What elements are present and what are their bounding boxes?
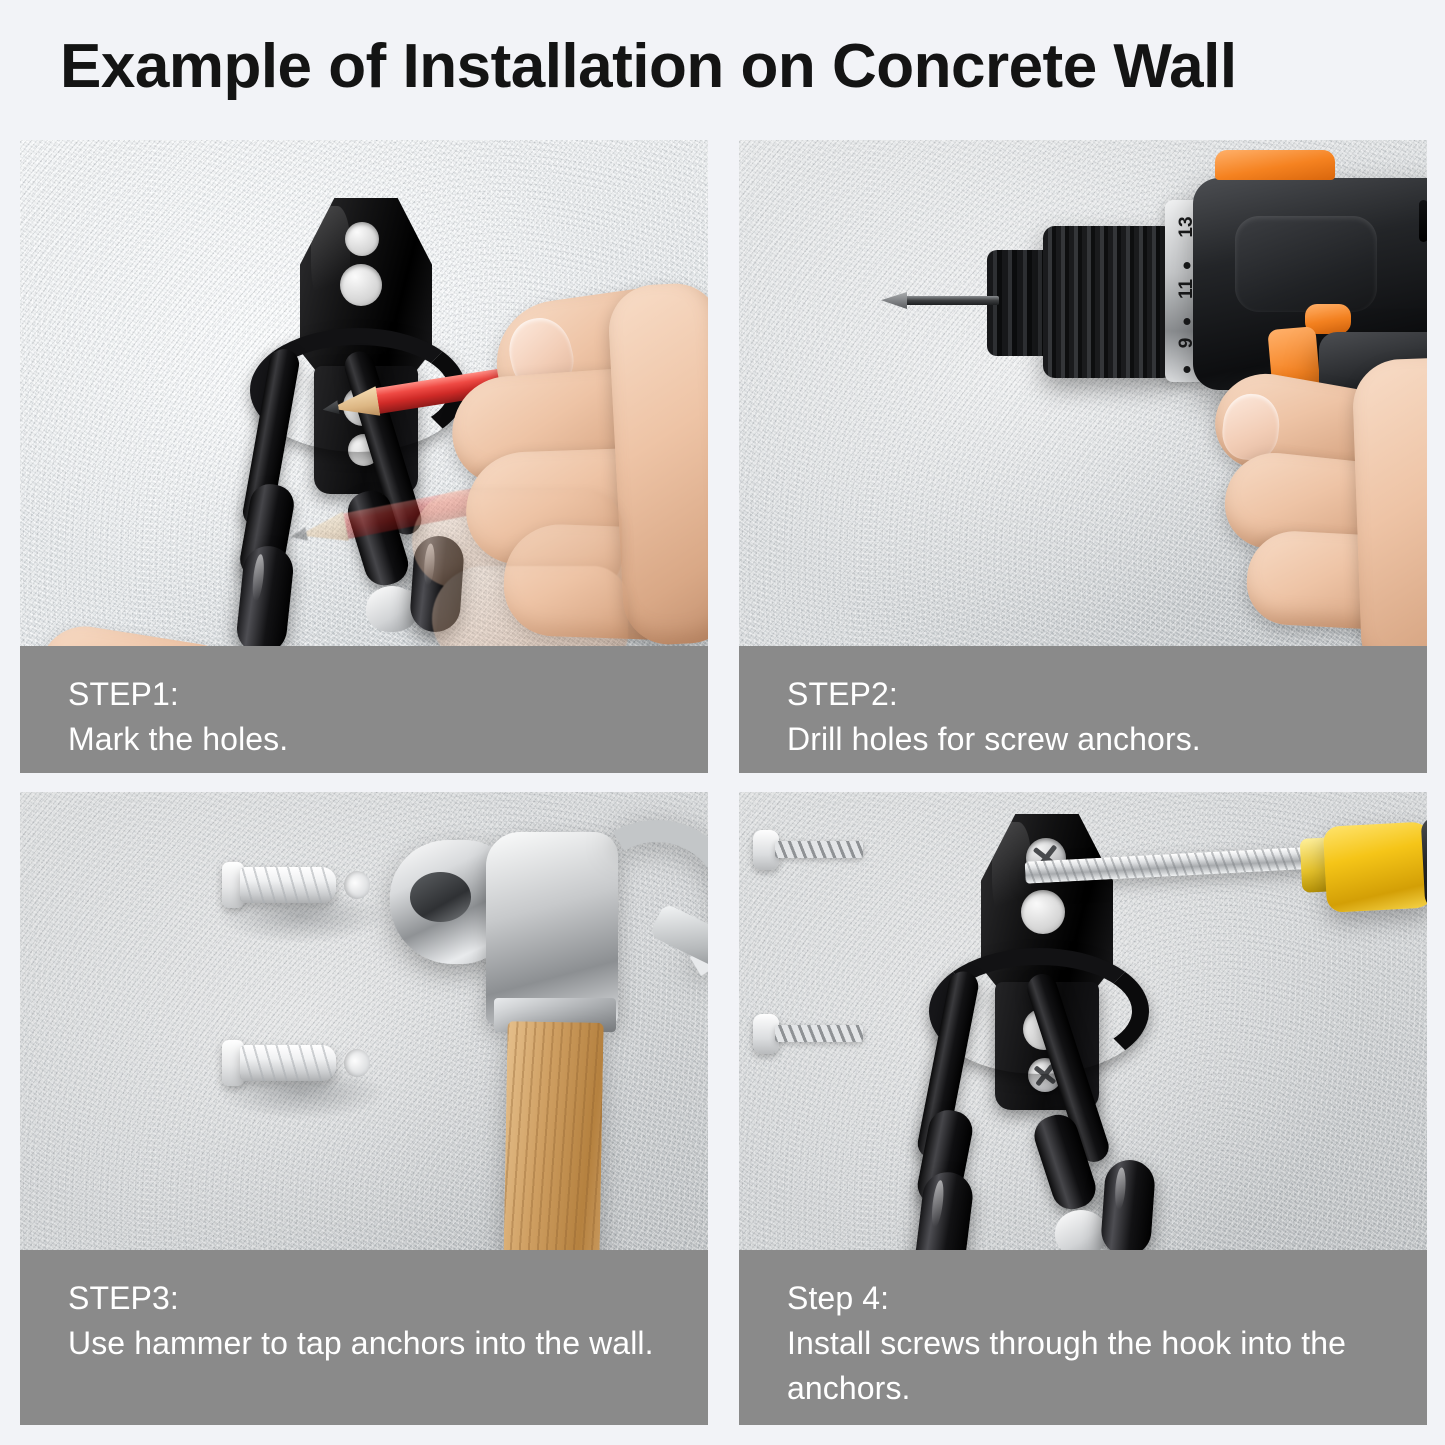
step-panel-1: STEP1: Mark the holes. [20, 140, 708, 773]
anchor-shaft-top [240, 867, 336, 903]
wall-anchor-bottom [222, 1040, 372, 1090]
torque-dot-1 [1184, 262, 1191, 269]
step-1-heading: STEP1: [68, 672, 708, 717]
step-3-body: Use hammer to tap anchors into the wall. [68, 1321, 660, 1366]
torque-dot-2 [1184, 318, 1191, 325]
step-4-body: Install screws through the hook into the… [787, 1321, 1379, 1411]
step-1-body: Mark the holes. [68, 717, 660, 762]
grip-hand-back [1351, 355, 1427, 680]
hook-hole-second [340, 264, 382, 306]
screwdriver-shaft [1025, 846, 1322, 883]
screw-thread-bottom [775, 1025, 863, 1042]
drill-top-accent [1215, 150, 1335, 180]
step-4-heading: Step 4: [787, 1276, 1427, 1321]
step-panel-2: 13 11 9 STEP2: Dr [739, 140, 1427, 773]
anchor-mouth-top [344, 871, 370, 899]
step-2-body: Drill holes for screw anchors. [787, 717, 1379, 762]
step-3-caption: STEP3: Use hammer to tap anchors into th… [20, 1250, 708, 1425]
step-panel-4: Step 4: Install screws through the hook … [739, 792, 1427, 1425]
hook-hole-top [345, 222, 379, 256]
step-4-caption: Step 4: Install screws through the hook … [739, 1250, 1427, 1425]
wall-anchor-top [222, 862, 372, 912]
drill-vent-1 [1419, 200, 1427, 242]
wall-screw-bottom [753, 1014, 883, 1058]
anchor-shaft-bottom [240, 1045, 336, 1081]
step-2-caption: STEP2: Drill holes for screw anchors. [739, 646, 1427, 773]
screw-thread-top [775, 841, 863, 858]
claw-hammer [390, 826, 708, 1246]
screwdriver-grip [1323, 821, 1427, 913]
wall-screw-top [753, 830, 883, 874]
drill-chuck [1043, 226, 1179, 378]
hand-gripping-drill [1207, 350, 1427, 680]
step-3-heading: STEP3: [68, 1276, 708, 1321]
installation-steps-grid: STEP1: Mark the holes. 13 11 9 [20, 140, 1427, 1425]
step-1-caption: STEP1: Mark the holes. [20, 646, 708, 773]
anchor-mouth-bottom [344, 1049, 370, 1077]
page-title: Example of Installation on Concrete Wall [60, 24, 1400, 110]
masonry-drill-bit [903, 296, 999, 305]
torque-dot-3 [1184, 366, 1191, 373]
hook-tip-right-cap [1100, 1158, 1157, 1257]
screwdriver [1025, 810, 1427, 930]
step-2-heading: STEP2: [787, 672, 1427, 717]
step-panel-3: STEP3: Use hammer to tap anchors into th… [20, 792, 708, 1425]
drill-body-pad [1235, 216, 1377, 312]
